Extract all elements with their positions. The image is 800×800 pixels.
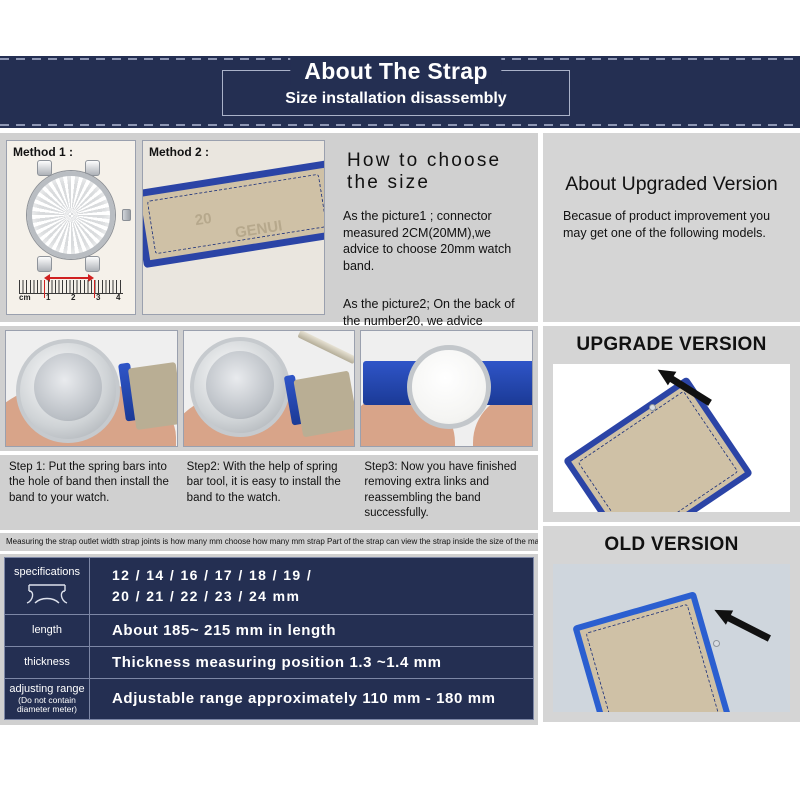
spec-value-adjusting-range: Adjustable range approximately 110 mm - … [90,678,534,720]
specifications-table-wrapper: specifications 12 / 14 / 16 / 17 / 18 / … [0,554,538,726]
arrow-shaft [725,614,771,642]
ruler-tick-label-1: 1 [46,293,50,302]
ruler-tick-label-2: 2 [71,293,75,302]
upgrade-spring-bar-pin [649,404,656,411]
ruler-ticks [19,280,123,294]
old-version-title: OLD VERSION [553,534,790,556]
banner-dashed-line-bottom [0,124,800,126]
infographic-page: About The Strap Size installation disass… [0,0,800,800]
old-version-photo [553,564,790,712]
specifications-table: specifications 12 / 14 / 16 / 17 / 18 / … [4,557,534,721]
spec-label-sublabel: (Do not contain diameter meter) [7,696,87,716]
spec-value-thickness: Thickness measuring position 1.3 ~1.4 mm [90,646,534,678]
ruler-red-mark-end [94,280,95,298]
spec-value-specifications: 12 / 14 / 16 / 17 / 18 / 19 / 20 / 21 / … [90,557,534,614]
watch-lug-bottom-left [37,256,52,272]
ruler-tick-label-3: 3 [96,293,100,302]
spring-bar-tool [297,330,355,364]
step-1-caption: Step 1: Put the spring bars into the hol… [5,460,178,522]
watch-crown [122,209,131,221]
spec-label-thickness: thickness [5,646,90,678]
method-1-label: Method 1 : [13,145,73,159]
arrow-shaft [49,277,89,279]
method-1-card: Method 1 : cm 1 2 [6,140,136,315]
spec-label-specifications: specifications [5,557,90,614]
spec-label-text: specifications [14,566,80,578]
spec-label-adjusting-range: adjusting range (Do not contain diameter… [5,678,90,720]
watch-lug-top-left [37,160,52,176]
about-upgraded-version-panel: About Upgraded Version Becasue of produc… [543,133,800,322]
strap-emboss-number: 20 [194,210,213,229]
table-row: specifications 12 / 14 / 16 / 17 / 18 / … [5,557,534,614]
left-column: Method 1 : cm 1 2 [0,133,538,725]
spec-label-text: adjusting range [9,683,84,695]
strap-diagram-icon [19,581,75,605]
watch-dial [407,345,491,429]
title-box: About The Strap Size installation disass… [222,70,570,116]
step-3-photo [360,330,533,447]
upgrade-version-title: UPGRADE VERSION [553,334,790,356]
ruler-unit-label: cm [19,293,31,302]
step-1-photo [5,330,178,447]
table-row: thickness Thickness measuring position 1… [5,646,534,678]
page-title: About The Strap [290,58,501,85]
upgraded-version-body: Becasue of product improvement you may g… [553,208,790,242]
ruler-illustration: cm 1 2 3 4 [19,280,123,306]
page-subtitle: Size installation disassembly [223,90,569,108]
how-to-paragraph-1: As the picture1 ; connector measured 2CM… [343,208,524,274]
how-to-title: How to choose the size [347,150,524,194]
old-version-panel: OLD VERSION [543,526,800,722]
step-2-photo [183,330,356,447]
measuring-note: Measuring the strap outlet width strap j… [0,533,538,551]
step-captions-row: Step 1: Put the spring bars into the hol… [0,455,538,530]
step-2-caption: Step2: With the help of spring bar tool,… [183,460,356,522]
method-2-card: Method 2 : 20 GENUI [142,140,325,315]
how-to-choose-panel: How to choose the size As the picture1 ;… [331,140,532,315]
old-strap-illustration [572,591,734,712]
watch-movement [34,353,102,421]
methods-and-howto-row: Method 1 : cm 1 2 [0,133,538,322]
watch-movement [206,351,274,419]
ruler-red-mark-start [44,280,45,298]
step-photos-row [0,326,538,451]
upgraded-version-title: About Upgraded Version [553,173,790,196]
ruler-tick-label-4: 4 [116,293,120,302]
tan-strap-back [128,362,178,430]
table-row: length About 185~ 215 mm in length [5,614,534,646]
table-row: adjusting range (Do not contain diameter… [5,678,534,720]
old-pointer-arrow [711,603,774,645]
tan-strap-back [293,371,355,438]
spec-label-length: length [5,614,90,646]
watch-case-illustration [27,171,115,259]
right-column: About Upgraded Version Becasue of produc… [543,133,800,722]
upgrade-version-photo [553,364,790,512]
strap-back-illustration [142,160,325,268]
upgrade-version-panel: UPGRADE VERSION [543,326,800,522]
header-banner: About The Strap Size installation disass… [0,56,800,128]
step-3-caption: Step3: Now you have finished removing ex… [360,460,533,522]
watch-lug-bottom-right [85,256,100,272]
old-spring-bar-pin [713,640,720,647]
spec-value-length: About 185~ 215 mm in length [90,614,534,646]
upgrade-strap-illustration [563,376,753,512]
method-2-label: Method 2 : [149,145,209,159]
